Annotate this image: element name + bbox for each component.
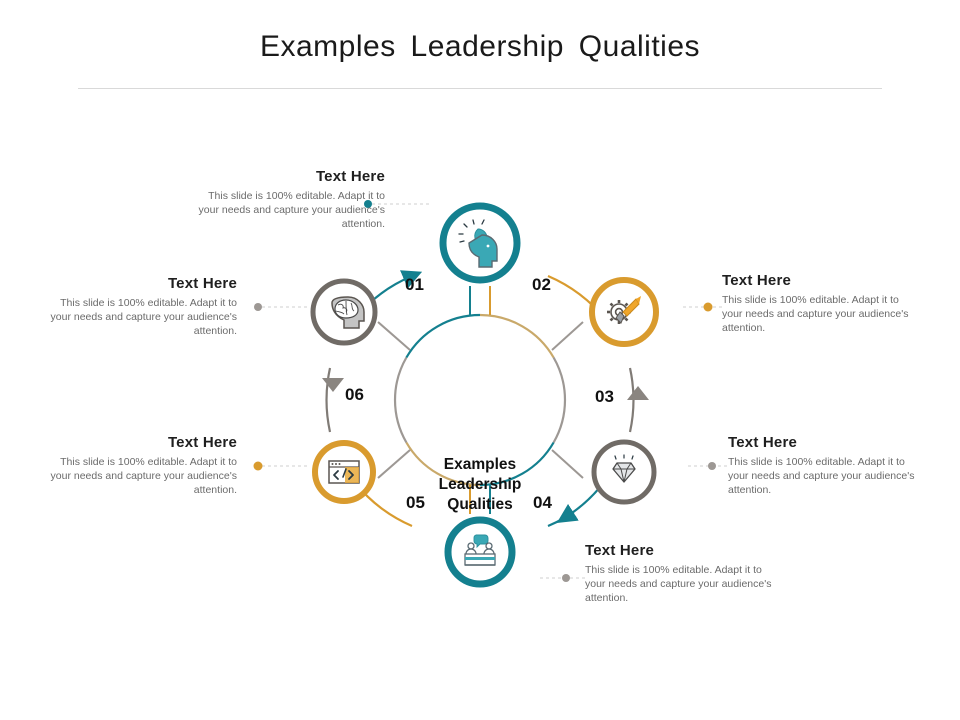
text-block-03: Text Here This slide is 100% editable. A… — [728, 434, 920, 497]
arrow-up-triangle-icon — [627, 386, 649, 400]
text-block-01-heading: Text Here — [195, 168, 385, 185]
node-number-05: 05 — [406, 493, 425, 513]
center-line-2: Leadership — [398, 475, 562, 495]
text-block-06: Text Here This slide is 100% editable. A… — [45, 275, 237, 338]
text-block-01: Text Here This slide is 100% editable. A… — [195, 168, 385, 231]
node-number-01: 01 — [405, 275, 424, 295]
text-block-04-heading: Text Here — [585, 542, 780, 559]
page-title: Examples Leadership Qualities — [0, 30, 960, 64]
text-block-03-heading: Text Here — [728, 434, 920, 451]
text-block-02: Text Here This slide is 100% editable. A… — [722, 272, 917, 335]
text-block-02-heading: Text Here — [722, 272, 917, 289]
title-divider — [78, 88, 882, 89]
text-block-06-body: This slide is 100% editable. Adapt it to… — [45, 296, 237, 338]
text-block-05-heading: Text Here — [45, 434, 237, 451]
slide-canvas: Examples Leadership Qualities — [0, 0, 960, 720]
text-block-05-body: This slide is 100% editable. Adapt it to… — [45, 455, 237, 497]
center-line-1: Examples — [398, 455, 562, 475]
node-number-02: 02 — [532, 275, 551, 295]
arrow-down-triangle-icon — [322, 378, 344, 392]
cycle-diagram: Examples Leadership Qualities 01 02 03 0… — [0, 100, 960, 660]
node-number-04: 04 — [533, 493, 552, 513]
node-circle-04[interactable] — [448, 520, 512, 584]
diagram-svg — [0, 100, 960, 660]
text-block-02-body: This slide is 100% editable. Adapt it to… — [722, 293, 917, 335]
node-number-03: 03 — [595, 387, 614, 407]
code-window-icon — [329, 461, 359, 483]
text-block-04: Text Here This slide is 100% editable. A… — [585, 542, 780, 605]
text-block-03-body: This slide is 100% editable. Adapt it to… — [728, 455, 920, 497]
text-block-06-heading: Text Here — [45, 275, 237, 292]
text-block-01-body: This slide is 100% editable. Adapt it to… — [195, 189, 385, 231]
text-block-04-body: This slide is 100% editable. Adapt it to… — [585, 563, 780, 605]
text-block-05: Text Here This slide is 100% editable. A… — [45, 434, 237, 497]
node-number-06: 06 — [345, 385, 364, 405]
